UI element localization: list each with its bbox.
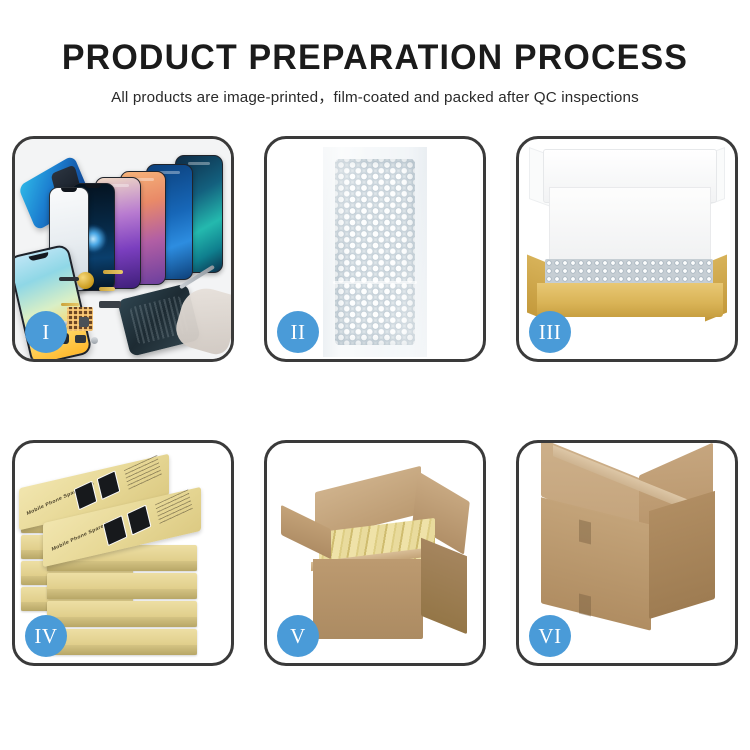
speaker-module-icon bbox=[77, 272, 94, 289]
step-badge-6: VI bbox=[529, 615, 571, 657]
step-5-illustration: V bbox=[267, 443, 483, 663]
carton-seam bbox=[579, 594, 591, 617]
step-3-illustration: III bbox=[519, 139, 735, 359]
flex-cable-icon bbox=[61, 303, 79, 306]
step-badge-3: III bbox=[529, 311, 571, 353]
step-badge-4: IV bbox=[25, 615, 67, 657]
carton-front-face bbox=[313, 559, 423, 639]
header: PRODUCT PREPARATION PROCESS All products… bbox=[0, 0, 750, 108]
product-photo-on-box bbox=[127, 505, 152, 536]
flex-cable-icon bbox=[99, 287, 115, 291]
vibration-motor-icon bbox=[79, 317, 89, 327]
process-step-panel-4: Mobile Phone Spare Parts Mobile Phone Sp… bbox=[12, 440, 234, 666]
product-preparation-infographic: PRODUCT PREPARATION PROCESS All products… bbox=[0, 0, 750, 750]
step-4-illustration: Mobile Phone Spare Parts Mobile Phone Sp… bbox=[15, 443, 231, 663]
retail-box bbox=[47, 629, 197, 655]
step-badge-5: V bbox=[277, 615, 319, 657]
process-step-panel-1: I bbox=[12, 136, 234, 362]
carton-side-face bbox=[649, 491, 715, 619]
step-badge-2: II bbox=[277, 311, 319, 353]
process-step-panel-5: V bbox=[264, 440, 486, 666]
screw-icon bbox=[91, 337, 98, 344]
battery-connector-icon bbox=[75, 335, 86, 343]
carton-seam bbox=[579, 520, 591, 545]
small-part-icon bbox=[59, 277, 79, 281]
process-step-panel-2: II bbox=[264, 136, 486, 362]
box-inner-liner bbox=[549, 187, 711, 265]
step-badge-1: I bbox=[25, 311, 67, 353]
flex-cable-icon bbox=[103, 270, 123, 274]
plastic-gloss-overlay bbox=[323, 147, 427, 357]
step-2-illustration: II bbox=[267, 139, 483, 359]
process-step-panel-6: VI bbox=[516, 440, 738, 666]
step-1-illustration: I bbox=[15, 139, 231, 359]
kraft-box-front bbox=[537, 283, 723, 317]
box-spec-lines bbox=[124, 455, 162, 491]
product-photo-on-box bbox=[97, 470, 121, 500]
page-subtitle: All products are image-printed，film-coat… bbox=[0, 78, 750, 108]
page-title: PRODUCT PREPARATION PROCESS bbox=[11, 0, 739, 78]
product-photo-on-box bbox=[103, 515, 128, 546]
process-step-panel-3: III bbox=[516, 136, 738, 362]
retail-box bbox=[47, 573, 197, 599]
step-6-illustration: VI bbox=[519, 443, 735, 663]
retail-box bbox=[47, 601, 197, 627]
bubble-wrap-sleeve bbox=[323, 147, 427, 357]
connector-icon bbox=[99, 301, 121, 308]
